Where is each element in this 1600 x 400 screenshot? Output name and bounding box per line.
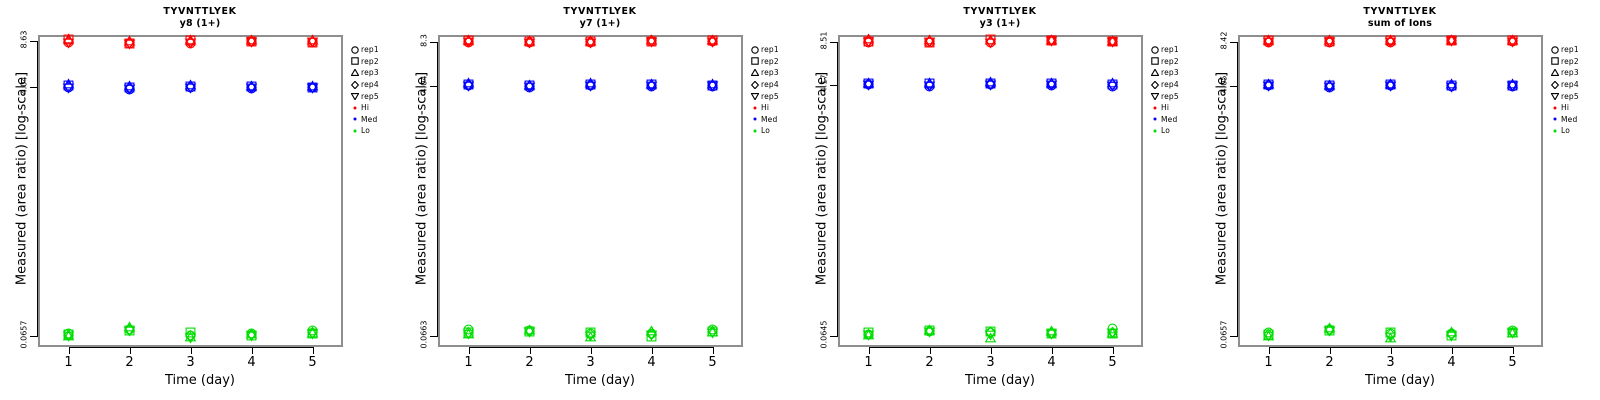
y-tick: [830, 42, 838, 43]
data-point: [185, 332, 196, 343]
legend-label: Hi: [361, 103, 369, 112]
legend-item: rep3: [1148, 67, 1200, 79]
dot-icon: [1548, 125, 1561, 136]
data-point: [646, 36, 657, 47]
x-tick-label: 4: [1437, 355, 1467, 370]
data-point: [707, 80, 718, 91]
x-tick-label: 3: [976, 355, 1006, 370]
data-point: [246, 36, 257, 47]
y-tick: [1230, 336, 1238, 337]
y-tick-label: 4.17: [820, 53, 829, 113]
x-tick: [1269, 347, 1270, 354]
legend: rep1rep2rep3rep4rep5HiMedLo: [1548, 44, 1600, 137]
triangle-down-icon: [348, 91, 361, 102]
y-tick: [30, 336, 38, 337]
y-tick: [1230, 86, 1238, 87]
x-tick-label: 3: [1376, 355, 1406, 370]
legend-item: rep1: [1148, 44, 1200, 56]
x-tick: [1513, 347, 1514, 354]
panel-grid: TYVNTTLYEKy8 (1+)Measured (area ratio) […: [0, 0, 1600, 400]
data-point: [185, 82, 196, 93]
chart-panel: TYVNTTLYEKy3 (1+)Measured (area ratio) […: [800, 0, 1200, 400]
x-axis-label: Time (day): [800, 373, 1200, 388]
legend-item: rep4: [748, 79, 800, 91]
dot-icon: [748, 125, 761, 136]
data-point: [707, 36, 718, 47]
y-axis-line: [837, 42, 838, 337]
legend: rep1rep2rep3rep4rep5HiMedLo: [348, 44, 400, 137]
triangle-up-icon: [1548, 67, 1561, 78]
data-point: [1324, 36, 1335, 47]
x-tick-label: 5: [298, 355, 328, 370]
x-tick: [191, 347, 192, 354]
data-point: [185, 37, 196, 48]
data-point: [1263, 330, 1274, 341]
legend: rep1rep2rep3rep4rep5HiMedLo: [1148, 44, 1200, 137]
legend-label: rep3: [761, 68, 779, 77]
x-tick: [713, 347, 714, 354]
data-point: [124, 38, 135, 49]
legend-item: rep2: [1548, 56, 1600, 68]
data-point: [524, 326, 535, 337]
circle-icon: [748, 44, 761, 55]
legend-label: Hi: [761, 103, 769, 112]
legend-label: rep5: [1561, 92, 1579, 101]
x-tick: [1391, 347, 1392, 354]
panel-title: TYVNTTLYEK: [0, 6, 400, 17]
legend-label: Med: [361, 115, 377, 124]
legend-label: rep5: [761, 92, 779, 101]
data-point: [1507, 80, 1518, 91]
x-tick: [591, 347, 592, 354]
data-point: [1046, 79, 1057, 90]
x-tick: [652, 347, 653, 354]
data-point: [1446, 81, 1457, 92]
x-tick: [252, 347, 253, 354]
data-point: [124, 325, 135, 336]
data-point: [63, 82, 74, 93]
dot-icon: [348, 125, 361, 136]
triangle-up-icon: [1148, 67, 1161, 78]
legend-label: Lo: [361, 126, 370, 135]
legend-item: Med: [748, 114, 800, 126]
y-tick: [830, 85, 838, 86]
legend-item: Hi: [748, 102, 800, 114]
panel-title: TYVNTTLYEK: [1200, 6, 1600, 17]
triangle-down-icon: [1548, 91, 1561, 102]
x-tick-label: 5: [1498, 355, 1528, 370]
data-point: [1385, 36, 1396, 47]
legend-item: rep1: [348, 44, 400, 56]
x-tick-label: 1: [854, 355, 884, 370]
data-point: [646, 329, 657, 340]
x-tick-label: 2: [115, 355, 145, 370]
y-axis-line: [37, 41, 38, 336]
legend-label: rep4: [361, 80, 379, 89]
panel-subtitle: y3 (1+): [800, 18, 1200, 29]
x-tick-label: 4: [1037, 355, 1067, 370]
legend-label: rep4: [761, 80, 779, 89]
legend-label: rep3: [361, 68, 379, 77]
data-point: [524, 37, 535, 48]
data-point: [307, 82, 318, 93]
diamond-icon: [1148, 79, 1161, 90]
legend-label: Med: [1561, 115, 1577, 124]
triangle-up-icon: [348, 67, 361, 78]
legend-item: rep3: [1548, 67, 1600, 79]
data-point: [585, 37, 596, 48]
data-point: [924, 80, 935, 91]
legend-item: rep4: [1148, 79, 1200, 91]
data-point: [63, 330, 74, 341]
diamond-icon: [748, 79, 761, 90]
x-tick: [313, 347, 314, 354]
data-point: [1107, 36, 1118, 47]
data-point: [124, 83, 135, 94]
data-point: [985, 329, 996, 340]
y-tick: [830, 336, 838, 337]
data-point: [1046, 35, 1057, 46]
legend-item: Med: [1148, 114, 1200, 126]
y-tick: [430, 86, 438, 87]
x-tick-label: 5: [698, 355, 728, 370]
legend-label: Lo: [761, 126, 770, 135]
legend-label: rep3: [1561, 68, 1579, 77]
legend-label: rep2: [1561, 57, 1579, 66]
dot-icon: [748, 102, 761, 113]
data-point: [63, 37, 74, 48]
diamond-icon: [1548, 79, 1561, 90]
y-tick-label: 0.0645: [820, 305, 829, 365]
data-point: [863, 329, 874, 340]
x-tick: [69, 347, 70, 354]
dot-icon: [348, 114, 361, 125]
legend-label: rep2: [361, 57, 379, 66]
dot-icon: [1148, 114, 1161, 125]
x-axis-label: Time (day): [1200, 373, 1600, 388]
data-point: [246, 82, 257, 93]
x-tick: [1330, 347, 1331, 354]
y-tick: [1230, 42, 1238, 43]
data-point: [985, 37, 996, 48]
data-point: [1385, 80, 1396, 91]
legend-item: rep3: [348, 67, 400, 79]
x-tick: [869, 347, 870, 354]
data-point: [707, 327, 718, 338]
data-point: [1385, 331, 1396, 342]
data-point: [1107, 327, 1118, 338]
x-tick-label: 1: [54, 355, 84, 370]
data-point: [1046, 328, 1057, 339]
y-tick-label: 4.04: [20, 56, 29, 116]
legend-label: rep4: [1561, 80, 1579, 89]
legend-item: rep4: [1548, 79, 1600, 91]
panel-title: TYVNTTLYEK: [400, 6, 800, 17]
data-point: [924, 36, 935, 47]
legend-label: rep5: [1161, 92, 1179, 101]
legend-label: Hi: [1161, 103, 1169, 112]
data-point: [863, 79, 874, 90]
y-tick: [30, 87, 38, 88]
diamond-icon: [348, 79, 361, 90]
legend: rep1rep2rep3rep4rep5HiMedLo: [748, 44, 800, 137]
dot-icon: [748, 114, 761, 125]
square-icon: [348, 56, 361, 67]
square-icon: [1548, 56, 1561, 67]
legend-item: rep1: [748, 44, 800, 56]
legend-item: Hi: [348, 102, 400, 114]
triangle-down-icon: [748, 91, 761, 102]
y-tick: [430, 336, 438, 337]
chart-panel: TYVNTTLYEKy8 (1+)Measured (area ratio) […: [0, 0, 400, 400]
y-tick-label: 4.05: [1220, 55, 1229, 115]
x-tick: [130, 347, 131, 354]
x-tick-label: 3: [176, 355, 206, 370]
legend-item: Lo: [348, 125, 400, 137]
legend-item: Lo: [1148, 125, 1200, 137]
legend-item: rep5: [1148, 90, 1200, 102]
legend-item: rep3: [748, 67, 800, 79]
legend-label: Med: [1161, 115, 1177, 124]
legend-label: rep4: [1161, 80, 1179, 89]
x-tick: [1452, 347, 1453, 354]
data-point: [463, 80, 474, 91]
data-point: [463, 328, 474, 339]
data-point: [1263, 36, 1274, 47]
x-tick-label: 3: [576, 355, 606, 370]
data-point: [646, 80, 657, 91]
x-tick-label: 1: [454, 355, 484, 370]
dot-icon: [1548, 102, 1561, 113]
data-point: [585, 330, 596, 341]
circle-icon: [1548, 44, 1561, 55]
panel-subtitle: sum of Ions: [1200, 18, 1600, 29]
y-tick-label: 0.0657: [20, 305, 29, 365]
x-tick-label: 1: [1254, 355, 1284, 370]
x-tick: [469, 347, 470, 354]
legend-item: Hi: [1548, 102, 1600, 114]
y-tick: [430, 42, 438, 43]
data-point: [585, 80, 596, 91]
legend-item: rep2: [748, 56, 800, 68]
x-tick-label: 2: [515, 355, 545, 370]
panel-subtitle: y8 (1+): [0, 18, 400, 29]
data-point: [1107, 80, 1118, 91]
legend-label: Lo: [1161, 126, 1170, 135]
legend-label: Med: [761, 115, 777, 124]
y-tick-label: 4.04: [420, 54, 429, 114]
legend-label: Lo: [1561, 126, 1570, 135]
dot-icon: [348, 102, 361, 113]
data-point: [1324, 325, 1335, 336]
legend-item: Lo: [1548, 125, 1600, 137]
legend-item: Hi: [1148, 102, 1200, 114]
square-icon: [748, 56, 761, 67]
triangle-up-icon: [748, 67, 761, 78]
legend-label: rep1: [1161, 45, 1179, 54]
data-point: [1507, 327, 1518, 338]
data-point: [1446, 35, 1457, 46]
data-point: [1446, 330, 1457, 341]
y-tick-label: 0.0663: [420, 304, 429, 364]
data-point: [1507, 36, 1518, 47]
legend-item: rep5: [1548, 90, 1600, 102]
circle-icon: [1148, 44, 1161, 55]
data-point: [524, 81, 535, 92]
x-tick-label: 4: [637, 355, 667, 370]
x-tick: [930, 347, 931, 354]
x-axis-label: Time (day): [0, 373, 400, 388]
x-tick-label: 2: [915, 355, 945, 370]
legend-item: rep2: [348, 56, 400, 68]
legend-label: rep2: [761, 57, 779, 66]
circle-icon: [348, 44, 361, 55]
dot-icon: [1148, 125, 1161, 136]
x-tick: [530, 347, 531, 354]
square-icon: [1148, 56, 1161, 67]
data-point: [924, 326, 935, 337]
x-axis-label: Time (day): [400, 373, 800, 388]
data-point: [307, 328, 318, 339]
legend-label: rep2: [1161, 57, 1179, 66]
legend-item: rep5: [748, 90, 800, 102]
data-point: [463, 36, 474, 47]
y-tick-label: 0.0657: [1220, 305, 1229, 365]
data-point: [246, 330, 257, 341]
legend-label: rep1: [761, 45, 779, 54]
legend-item: Med: [348, 114, 400, 126]
x-tick-label: 5: [1098, 355, 1128, 370]
x-tick: [1052, 347, 1053, 354]
chart-panel: TYVNTTLYEKsum of IonsMeasured (area rati…: [1200, 0, 1600, 400]
data-point: [307, 36, 318, 47]
legend-label: rep3: [1161, 68, 1179, 77]
x-tick: [1113, 347, 1114, 354]
chart-panel: TYVNTTLYEKy7 (1+)Measured (area ratio) […: [400, 0, 800, 400]
legend-label: Hi: [1561, 103, 1569, 112]
dot-icon: [1548, 114, 1561, 125]
x-tick-label: 4: [237, 355, 267, 370]
data-point: [985, 79, 996, 90]
legend-label: rep1: [361, 45, 379, 54]
legend-item: rep5: [348, 90, 400, 102]
triangle-down-icon: [1148, 91, 1161, 102]
dot-icon: [1148, 102, 1161, 113]
panel-title: TYVNTTLYEK: [800, 6, 1200, 17]
y-tick: [30, 41, 38, 42]
panel-subtitle: y7 (1+): [400, 18, 800, 29]
legend-item: rep4: [348, 79, 400, 91]
legend-item: Lo: [748, 125, 800, 137]
data-point: [863, 36, 874, 47]
legend-item: rep1: [1548, 44, 1600, 56]
legend-item: Med: [1548, 114, 1600, 126]
legend-label: rep1: [1561, 45, 1579, 54]
legend-item: rep2: [1148, 56, 1200, 68]
x-tick-label: 2: [1315, 355, 1345, 370]
data-point: [1324, 81, 1335, 92]
x-tick: [991, 347, 992, 354]
legend-label: rep5: [361, 92, 379, 101]
data-point: [1263, 80, 1274, 91]
